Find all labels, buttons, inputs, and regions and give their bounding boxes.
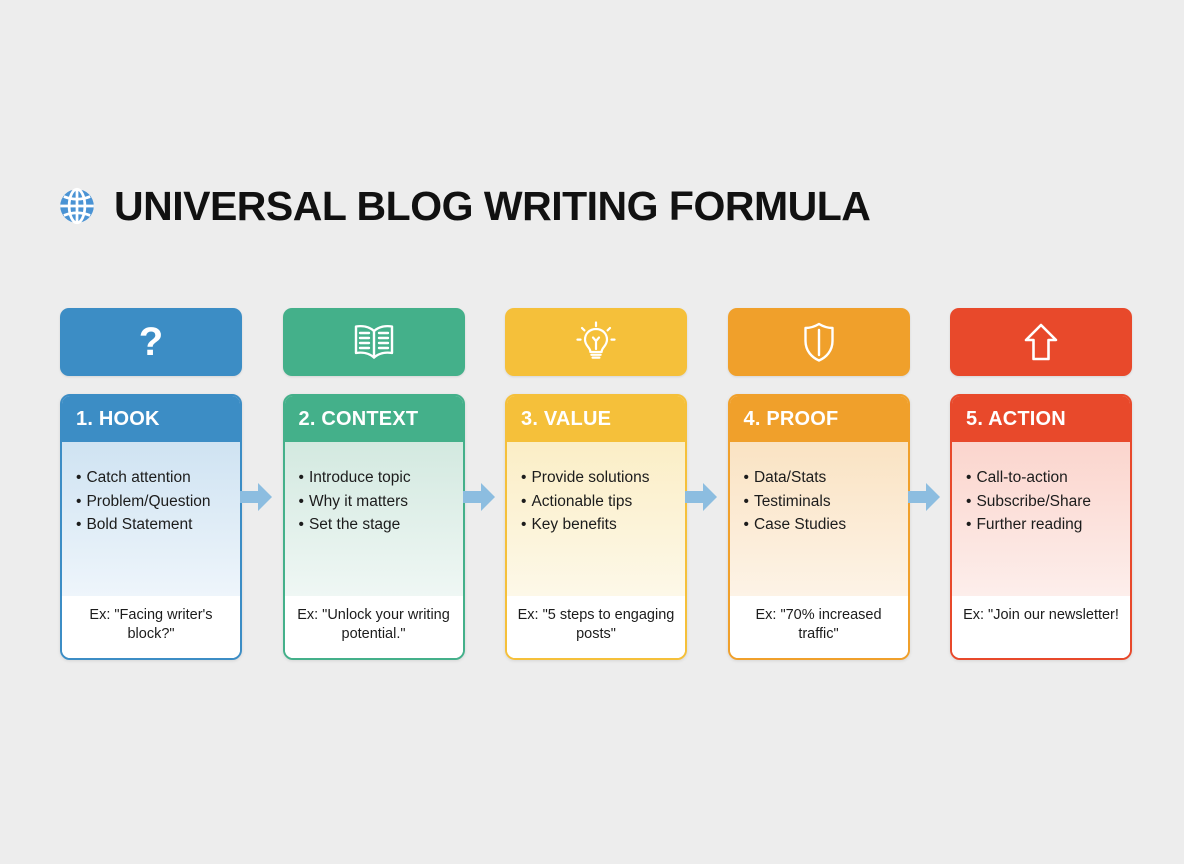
bullet-dot: • bbox=[966, 493, 971, 510]
step-title-hook: 1. HOOK bbox=[62, 396, 240, 442]
step-title-action: 5. ACTION bbox=[952, 396, 1130, 442]
bullet-dot: • bbox=[299, 516, 304, 533]
bullet-item: •Problem/Question bbox=[76, 490, 230, 514]
bullet-dot: • bbox=[744, 469, 749, 486]
bullet-item: •Why it matters bbox=[299, 490, 453, 514]
bullet-dot: • bbox=[966, 469, 971, 486]
bullet-text: Bold Statement bbox=[86, 516, 192, 533]
step-column-context: 2. CONTEXT •Introduce topic •Why it matt… bbox=[283, 308, 465, 660]
step-body-value: •Provide solutions •Actionable tips •Key… bbox=[507, 442, 685, 596]
bullet-text: Actionable tips bbox=[531, 493, 632, 510]
step-example-action: Ex: "Join our newsletter! bbox=[952, 596, 1130, 658]
bullet-dot: • bbox=[299, 469, 304, 486]
step-column-action: 5. ACTION •Call-to-action •Subscribe/Sha… bbox=[950, 308, 1132, 660]
bullet-dot: • bbox=[521, 516, 526, 533]
bullet-text: Set the stage bbox=[309, 516, 400, 533]
bullet-text: Subscribe/Share bbox=[976, 493, 1091, 510]
bullet-dot: • bbox=[76, 516, 81, 533]
bullet-text: Call-to-action bbox=[976, 469, 1067, 486]
connector-arrow-3 bbox=[684, 480, 718, 514]
step-title-proof: 4. PROOF bbox=[730, 396, 908, 442]
step-example-proof: Ex: "70% increased traffic" bbox=[730, 596, 908, 658]
connector-arrow-2 bbox=[462, 480, 496, 514]
shield-icon bbox=[800, 320, 838, 364]
bullet-dot: • bbox=[76, 493, 81, 510]
step-card-action[interactable]: 5. ACTION •Call-to-action •Subscribe/Sha… bbox=[950, 394, 1132, 660]
bullet-text: Why it matters bbox=[309, 493, 408, 510]
bullet-item: •Call-to-action bbox=[966, 466, 1120, 490]
step-column-proof: 4. PROOF •Data/Stats •Testiminals •Case … bbox=[728, 308, 910, 660]
step-card-proof[interactable]: 4. PROOF •Data/Stats •Testiminals •Case … bbox=[728, 394, 910, 660]
up-arrow-icon bbox=[1023, 321, 1059, 363]
bullet-dot: • bbox=[966, 516, 971, 533]
step-column-value: 3. VALUE •Provide solutions •Actionable … bbox=[505, 308, 687, 660]
bullet-item: •Key benefits bbox=[521, 513, 675, 537]
step-body-context: •Introduce topic •Why it matters •Set th… bbox=[285, 442, 463, 596]
bullet-item: •Provide solutions bbox=[521, 466, 675, 490]
bullet-dot: • bbox=[521, 493, 526, 510]
bullet-dot: • bbox=[521, 469, 526, 486]
bullet-item: •Actionable tips bbox=[521, 490, 675, 514]
steps-container: ? 1. HOOK •Catch attention •Problem/Ques… bbox=[60, 308, 1132, 660]
connector-arrow-4 bbox=[907, 480, 941, 514]
bullet-item: •Bold Statement bbox=[76, 513, 230, 537]
step-icon-box-hook: ? bbox=[60, 308, 242, 376]
bullet-dot: • bbox=[744, 493, 749, 510]
step-example-context: Ex: "Unlock your writing potential." bbox=[285, 596, 463, 658]
bullet-dot: • bbox=[744, 516, 749, 533]
bullet-text: Provide solutions bbox=[531, 469, 649, 486]
step-body-proof: •Data/Stats •Testiminals •Case Studies bbox=[730, 442, 908, 596]
globe-icon bbox=[56, 185, 98, 227]
open-book-icon bbox=[351, 322, 397, 362]
bullet-text: Problem/Question bbox=[86, 493, 210, 510]
step-body-action: •Call-to-action •Subscribe/Share •Furthe… bbox=[952, 442, 1130, 596]
step-icon-box-value bbox=[505, 308, 687, 376]
bullet-text: Data/Stats bbox=[754, 469, 826, 486]
step-title-context: 2. CONTEXT bbox=[285, 396, 463, 442]
lightbulb-icon bbox=[574, 320, 618, 364]
step-card-value[interactable]: 3. VALUE •Provide solutions •Actionable … bbox=[505, 394, 687, 660]
step-card-context[interactable]: 2. CONTEXT •Introduce topic •Why it matt… bbox=[283, 394, 465, 660]
bullet-text: Introduce topic bbox=[309, 469, 411, 486]
step-icon-box-context bbox=[283, 308, 465, 376]
bullet-item: •Subscribe/Share bbox=[966, 490, 1120, 514]
bullet-text: Catch attention bbox=[86, 469, 190, 486]
step-column-hook: ? 1. HOOK •Catch attention •Problem/Ques… bbox=[60, 308, 242, 660]
bullet-text: Case Studies bbox=[754, 516, 846, 533]
question-mark-icon: ? bbox=[139, 322, 163, 362]
bullet-item: •Testiminals bbox=[744, 490, 898, 514]
bullet-item: •Introduce topic bbox=[299, 466, 453, 490]
bullet-item: •Catch attention bbox=[76, 466, 230, 490]
bullet-item: •Case Studies bbox=[744, 513, 898, 537]
bullet-text: Further reading bbox=[976, 516, 1082, 533]
step-example-hook: Ex: "Facing writer's block?" bbox=[62, 596, 240, 658]
step-body-hook: •Catch attention •Problem/Question •Bold… bbox=[62, 442, 240, 596]
bullet-dot: • bbox=[299, 493, 304, 510]
page-header: UNIVERSAL BLOG WRITING FORMULA bbox=[56, 185, 870, 227]
bullet-text: Key benefits bbox=[531, 516, 616, 533]
connector-arrow-1 bbox=[239, 480, 273, 514]
step-title-value: 3. VALUE bbox=[507, 396, 685, 442]
bullet-dot: • bbox=[76, 469, 81, 486]
bullet-item: •Further reading bbox=[966, 513, 1120, 537]
step-card-hook[interactable]: 1. HOOK •Catch attention •Problem/Questi… bbox=[60, 394, 242, 660]
bullet-item: •Set the stage bbox=[299, 513, 453, 537]
step-example-value: Ex: "5 steps to engaging posts" bbox=[507, 596, 685, 658]
bullet-item: •Data/Stats bbox=[744, 466, 898, 490]
step-icon-box-proof bbox=[728, 308, 910, 376]
step-icon-box-action bbox=[950, 308, 1132, 376]
page-title: UNIVERSAL BLOG WRITING FORMULA bbox=[114, 186, 870, 227]
bullet-text: Testiminals bbox=[754, 493, 831, 510]
